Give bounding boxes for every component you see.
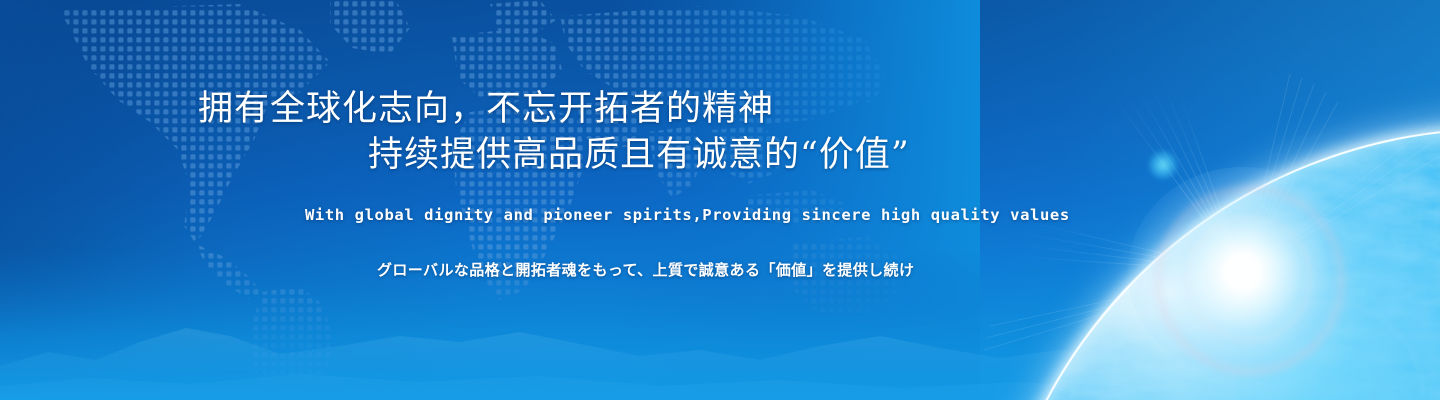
lens-flare-dot <box>1148 150 1178 180</box>
headline: 拥有全球化志向，不忘开拓者的精神 持续提供高品质且有诚意的“价值” <box>198 86 1058 178</box>
hero-banner: 拥有全球化志向，不忘开拓者的精神 持续提供高品质且有诚意的“价值” With g… <box>0 0 1440 400</box>
headline-line-2: 持续提供高品质且有诚意的“价值” <box>198 132 1058 178</box>
subtitle-japanese: グローバルな品格と開拓者魂をもって、上質で誠意ある「価値」を提供し続け <box>377 259 914 280</box>
subtitle-english: With global dignity and pioneer spirits,… <box>305 206 1070 224</box>
headline-line-1: 拥有全球化志向，不忘开拓者的精神 <box>198 89 774 129</box>
